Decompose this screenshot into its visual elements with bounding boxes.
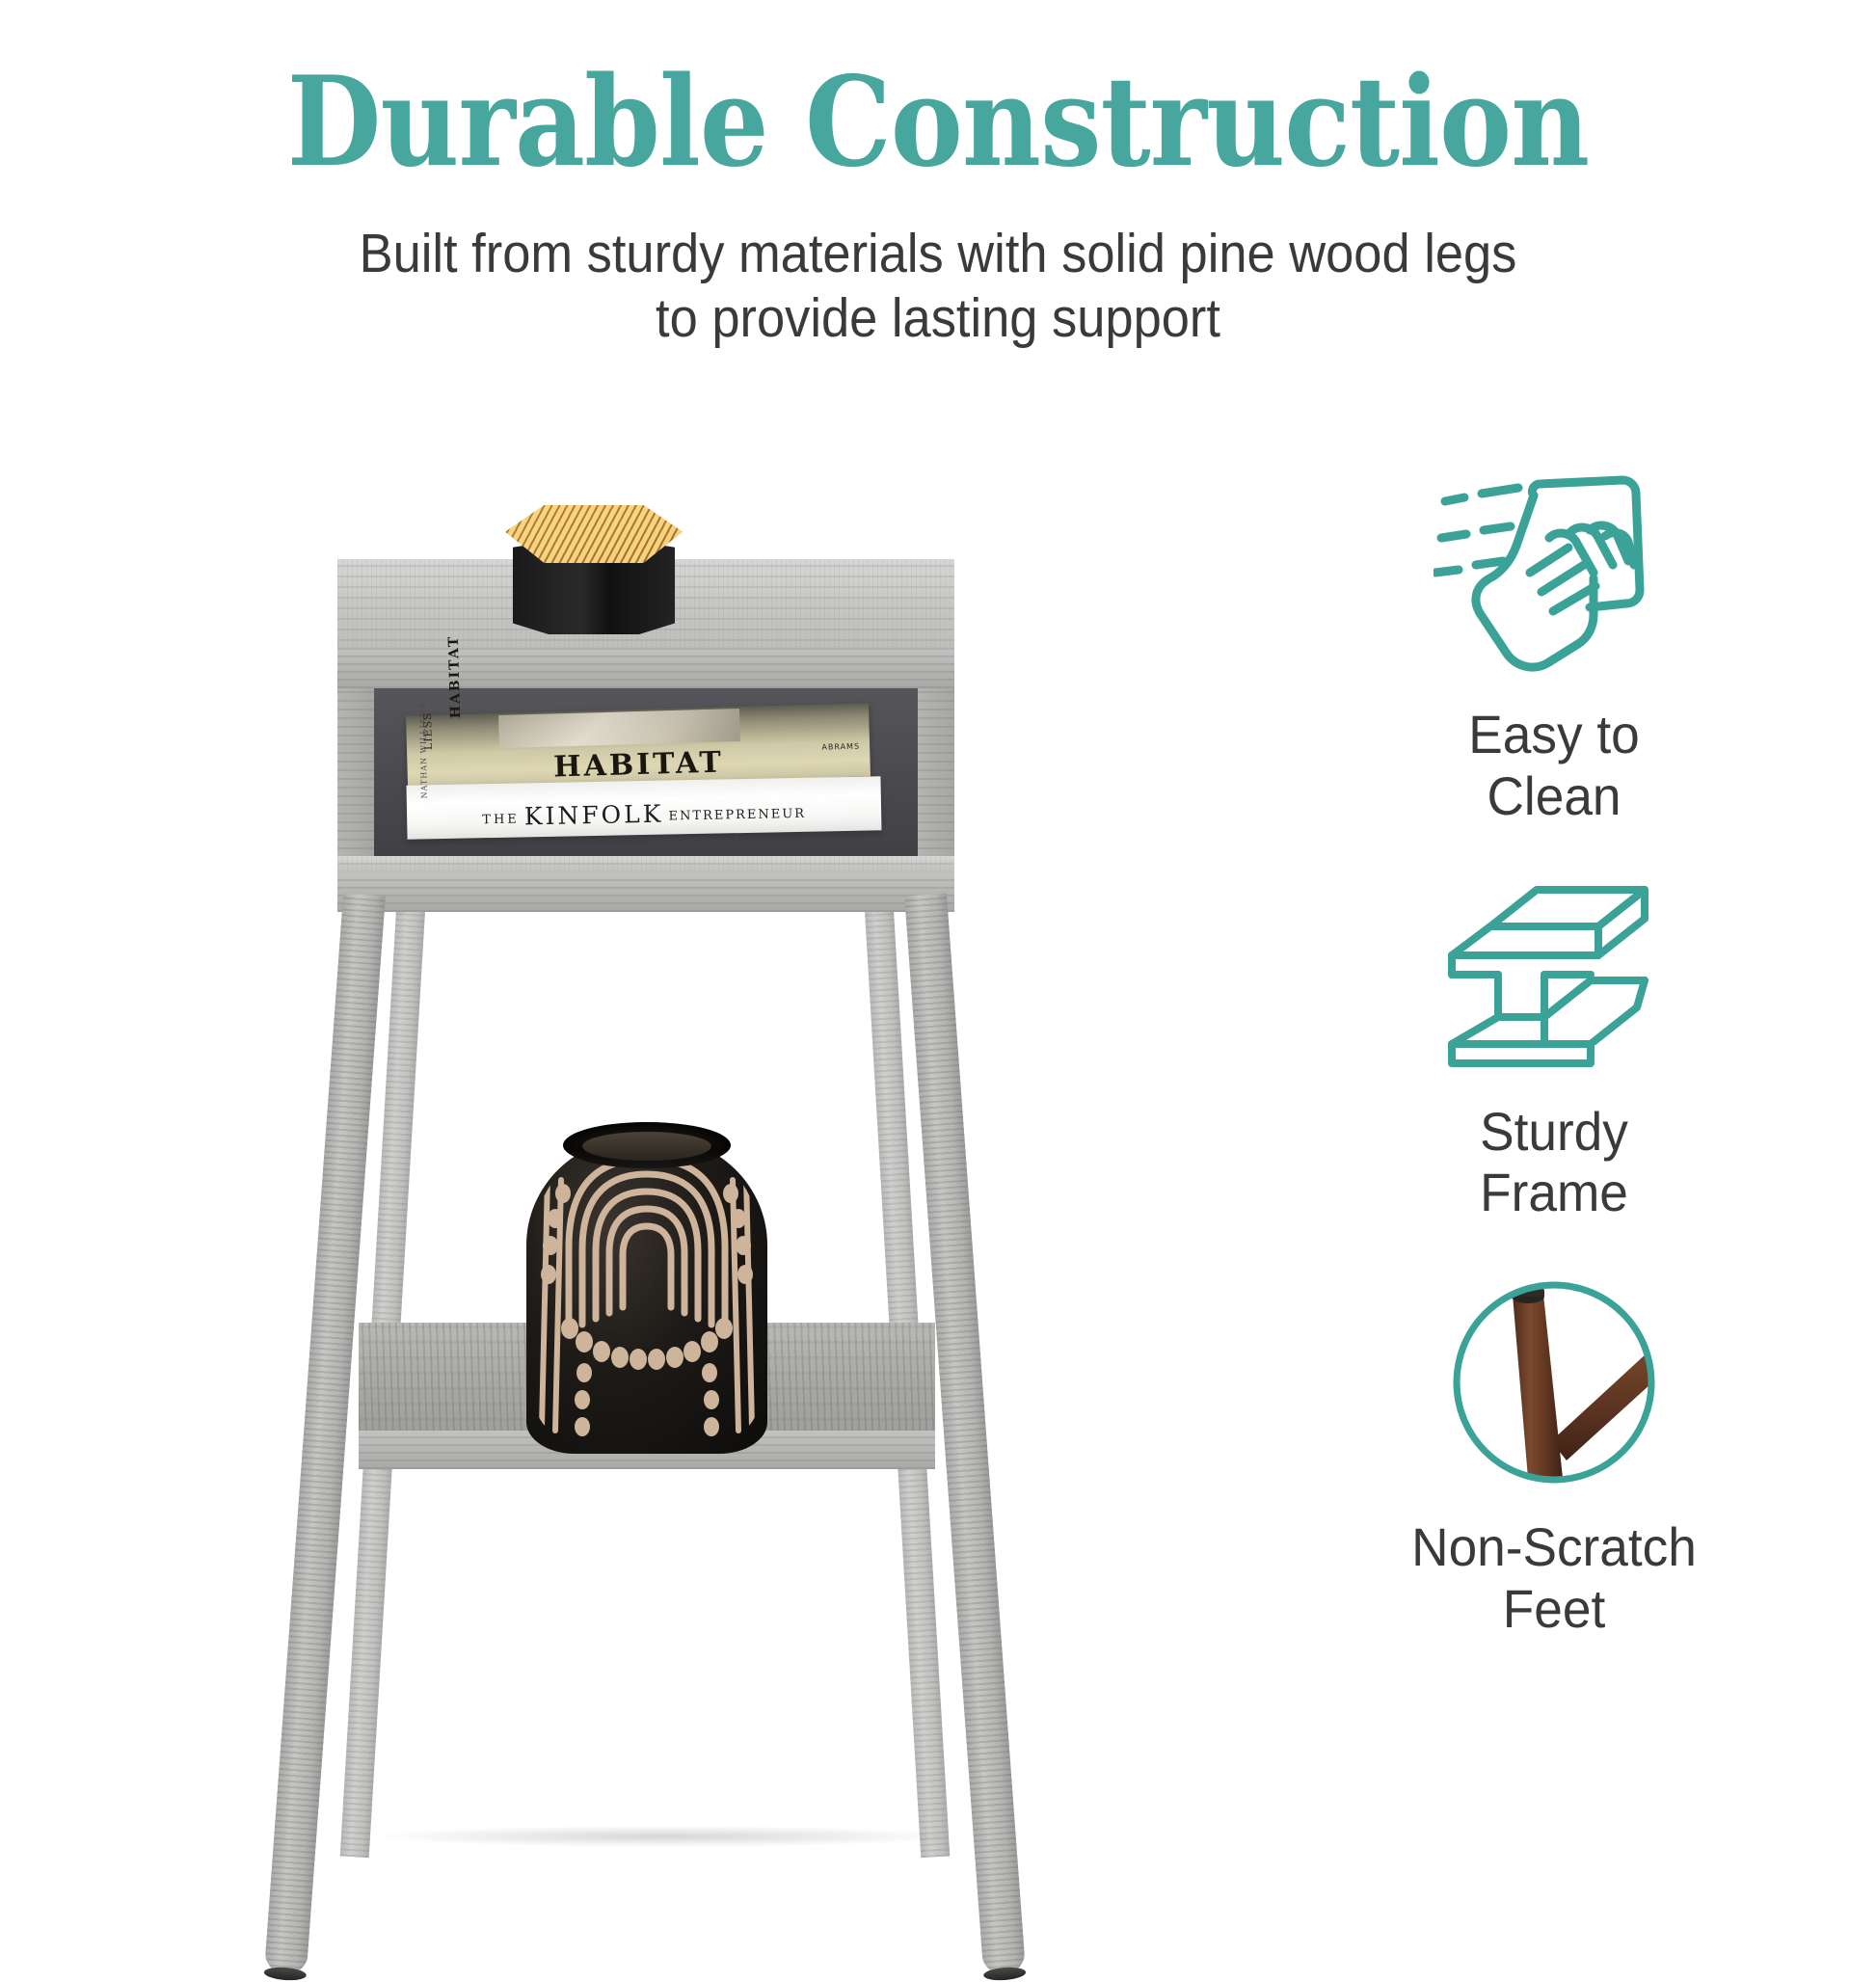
book-kinfolk-the: THE: [482, 812, 520, 827]
infographic-page: Durable Construction Built from sturdy m…: [0, 0, 1876, 1876]
feature-1-line-1: Easy to: [1344, 704, 1765, 765]
book-habitat: HABITAT LIESS HABITAT ABRAMS: [406, 703, 871, 789]
feature-2-line-2: Frame: [1344, 1162, 1765, 1223]
book-habitat-cover-title: HABITAT: [446, 634, 464, 718]
non-scratch-foot-photo-icon: [1332, 1258, 1776, 1507]
product-photo: HABITAT LIESS HABITAT ABRAMS NATHAN WILL…: [318, 540, 1051, 1851]
feature-non-scratch-feet-label: Non-Scratch Feet: [1344, 1516, 1765, 1640]
non-scratch-foot-front-right: [983, 1966, 1027, 1981]
feature-3-line-1: Non-Scratch: [1344, 1516, 1765, 1578]
feature-list: Easy to Clean: [1332, 457, 1776, 1674]
book-habitat-cover-art: [498, 709, 740, 748]
page-title: Durable Construction: [113, 0, 1763, 189]
i-beam-3d-icon: [1332, 862, 1776, 1091]
vase-pattern: [526, 1138, 767, 1454]
feature-1-line-2: Clean: [1344, 765, 1765, 827]
non-scratch-foot-front-left: [263, 1966, 307, 1981]
feature-sturdy-frame: Sturdy Frame: [1332, 862, 1776, 1224]
feature-sturdy-frame-label: Sturdy Frame: [1344, 1101, 1765, 1224]
book-kinfolk-author: NATHAN WILLIAMS: [418, 703, 429, 799]
feature-non-scratch-feet: Non-Scratch Feet: [1332, 1258, 1776, 1640]
feature-easy-to-clean-label: Easy to Clean: [1344, 704, 1765, 827]
feature-3-line-2: Feet: [1344, 1578, 1765, 1640]
feature-easy-to-clean: Easy to Clean: [1332, 457, 1776, 827]
cubby-bottom-surface: [337, 856, 954, 875]
cubby-bottom-edge: [337, 873, 954, 912]
book-habitat-publisher: ABRAMS: [821, 742, 860, 752]
product-ground-shadow: [376, 1826, 954, 1847]
decor-ceramic-vase: [526, 1122, 767, 1454]
subtitle-line-2: to provide lasting support: [75, 286, 1801, 351]
header: Durable Construction Built from sturdy m…: [0, 0, 1876, 352]
book-kinfolk: NATHAN WILLIAMS THE KINFOLK ENTREPRENEUR: [407, 776, 882, 839]
vase-mouth: [582, 1132, 711, 1161]
book-kinfolk-subtitle: ENTREPRENEUR: [668, 807, 806, 824]
table-top-edge: [337, 648, 954, 688]
hand-wiping-cloth-icon: [1332, 457, 1776, 694]
page-subtitle: Built from sturdy materials with solid p…: [75, 189, 1801, 352]
subtitle-line-1: Built from sturdy materials with solid p…: [75, 222, 1801, 286]
feature-2-line-1: Sturdy: [1344, 1101, 1765, 1163]
decor-hex-box: [499, 499, 688, 644]
book-kinfolk-spine: THE KINFOLK ENTREPRENEUR: [407, 795, 881, 832]
book-kinfolk-title: KINFOLK: [524, 800, 664, 831]
